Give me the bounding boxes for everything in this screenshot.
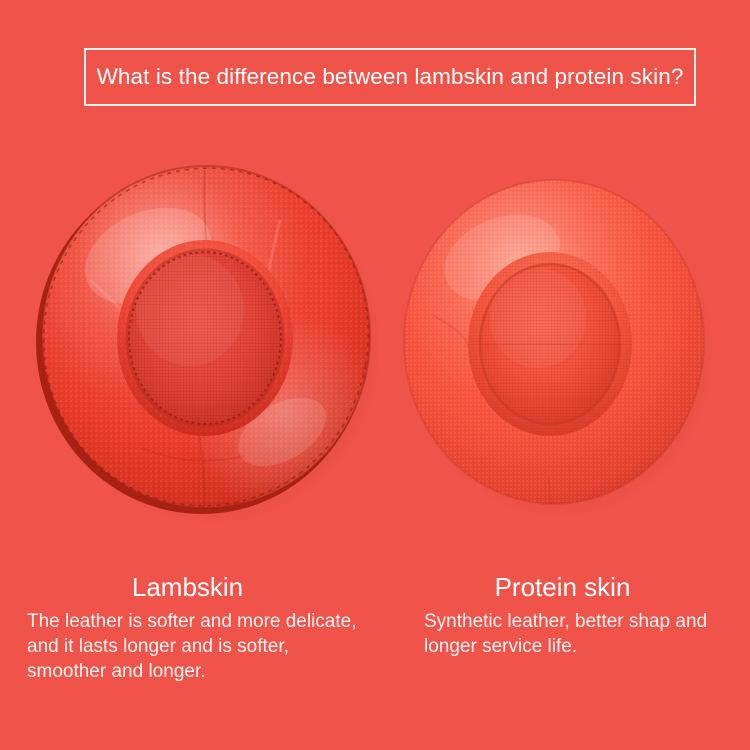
- lambskin-caption: Lambskin: [0, 572, 375, 603]
- product-comparison-graphic: What is the difference between lambskin …: [0, 0, 750, 750]
- protein-skin-earpad-image: [398, 176, 710, 518]
- lambskin-earpad-image: [30, 160, 378, 526]
- lambskin-description: The leather is softer and more delicate,…: [27, 609, 367, 684]
- lambskin-caption-text: Lambskin: [132, 572, 243, 602]
- protein-skin-description: Synthetic leather, better shap and longe…: [424, 609, 724, 659]
- title-banner: What is the difference between lambskin …: [84, 48, 696, 106]
- protein-skin-caption: Protein skin: [375, 572, 750, 603]
- page-title: What is the difference between lambskin …: [97, 64, 684, 90]
- protein-skin-caption-text: Protein skin: [495, 572, 631, 602]
